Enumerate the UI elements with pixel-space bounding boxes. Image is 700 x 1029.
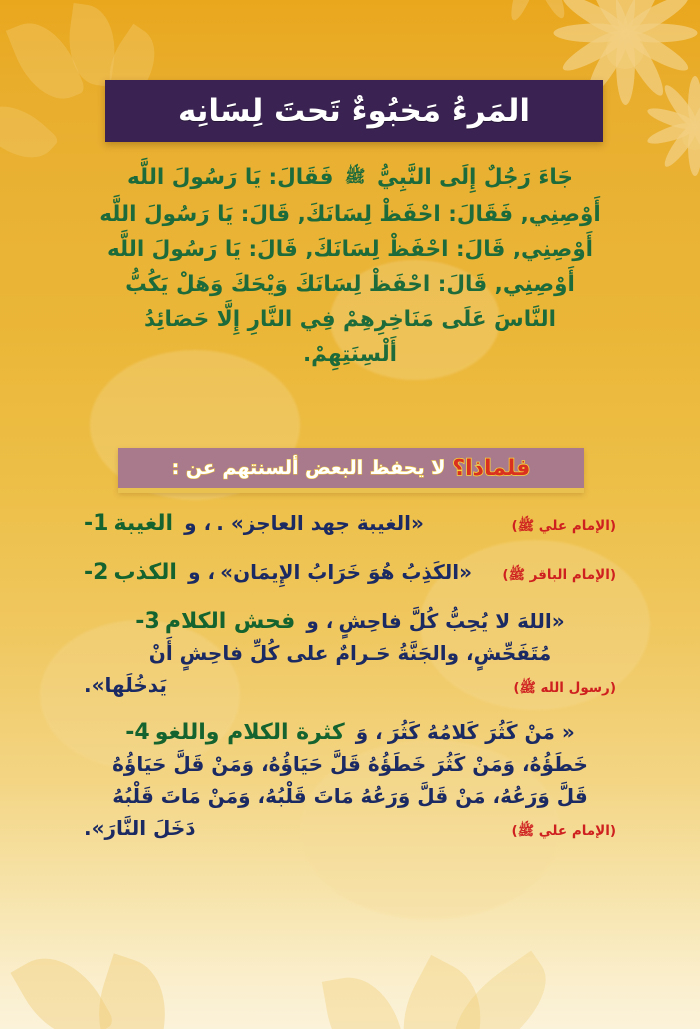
list-item: « مَنْ كَثُرَ كَلامُهُ كَثُرَ ، وَ كثرة …: [84, 717, 616, 846]
hadith-line: النَّاسَ عَلَى مَنَاخِرِهِمْ فِي النَّار…: [88, 302, 612, 337]
item-heading: فحش الكلام: [165, 609, 295, 634]
list-item: «اللهَ لا يُحِبُّ كُلَّ فاحِشٍ ، و فحش ا…: [84, 606, 616, 703]
item-main: «الكَذِبُ هُوَ خَرَابُ الإِيمَان» ، و ال…: [84, 557, 472, 589]
question-banner: فلماذا؟ لا يحفظ البعض ألسنتهم عن :: [118, 448, 584, 493]
item-row: (الإمام علي ﷺ) «الغيبة جهد العاجز» . ، و…: [84, 508, 616, 541]
item-quote: «الكَذِبُ هُوَ خَرَابُ الإِيمَان»: [220, 560, 472, 584]
hadith-line-part: جَاءَ رَجُلٌ إِلَى النَّبِيُّ: [377, 165, 573, 190]
item-heading: الكذب: [114, 560, 177, 585]
item-connector: ، وَ: [350, 720, 383, 744]
item-row: (رسول الله ﷺ) يَدخُلَها».: [84, 670, 616, 703]
item-quote: « مَنْ كَثُرَ كَلامُهُ كَثُرَ: [388, 720, 575, 744]
item-connector: ، و: [182, 560, 215, 584]
item-source: (الإمام علي ﷺ): [512, 511, 616, 541]
item-number: 4-: [125, 720, 149, 745]
item-number: 1-: [84, 511, 108, 536]
hadith-line: أَلْسِنَتِهِمْ.: [88, 337, 612, 372]
hadith-line: جَاءَ رَجُلٌ إِلَى النَّبِيُّ ﷺ فَقَالَ:…: [88, 160, 612, 197]
item-quote: «الغيبة جهد العاجز» .: [216, 511, 424, 535]
item-row: «اللهَ لا يُحِبُّ كُلَّ فاحِشٍ ، و فحش ا…: [84, 606, 616, 638]
item-source: (الإمام علي ﷺ): [512, 816, 616, 846]
list-item: (الإمام الباقر ﷺ) «الكَذِبُ هُوَ خَرَابُ…: [84, 557, 616, 590]
item-quote: مُتَفَحِّشٍ، والجَنَّةُ حَـرامٌ على كُلِ…: [149, 641, 551, 665]
item-source: (رسول الله ﷺ): [513, 673, 616, 703]
item-heading: الغيبة: [114, 511, 174, 536]
title-banner: المَرءُ مَخبُوءٌ تَحتَ لِسَانِه: [105, 80, 603, 142]
item-heading: كثرة الكلام واللغو: [155, 720, 345, 745]
item-row: (الإمام الباقر ﷺ) «الكَذِبُ هُوَ خَرَابُ…: [84, 557, 616, 590]
item-row: (الإمام علي ﷺ) دَخَلَ النَّارَ».: [84, 813, 616, 846]
item-number: 2-: [84, 560, 108, 585]
list-item: (الإمام علي ﷺ) «الغيبة جهد العاجز» . ، و…: [84, 508, 616, 541]
item-connector: ، و: [178, 511, 211, 535]
item-quote: قَلَّ وَرَعُهُ، مَنْ قَلَّ وَرَعُهُ مَات…: [112, 784, 588, 808]
item-main: «الغيبة جهد العاجز» . ، و الغيبة 1-: [84, 508, 424, 540]
hadith-line-part: فَقَالَ: يَا رَسُولَ اللَّه: [127, 165, 333, 190]
hadith-line: أَوْصِنِي, فَقَالَ: احْفَظْ لِسَانَكَ, ق…: [88, 197, 612, 232]
page-title: المَرءُ مَخبُوءٌ تَحتَ لِسَانِه: [178, 96, 530, 127]
question-rest: لا يحفظ البعض ألسنتهم عن :: [172, 457, 446, 479]
item-row: خَطَؤُهُ، وَمَنْ كَثُرَ خَطَؤُهُ قَلَّ ح…: [84, 749, 616, 781]
item-quote: دَخَلَ النَّارَ».: [84, 813, 196, 843]
item-row: قَلَّ وَرَعُهُ، مَنْ قَلَّ وَرَعُهُ مَات…: [84, 781, 616, 813]
item-source: (الإمام الباقر ﷺ): [502, 560, 616, 590]
item-quote: يَدخُلَها».: [84, 670, 167, 700]
hadith-text: جَاءَ رَجُلٌ إِلَى النَّبِيُّ ﷺ فَقَالَ:…: [88, 160, 612, 372]
item-row: « مَنْ كَثُرَ كَلامُهُ كَثُرَ ، وَ كثرة …: [84, 717, 616, 749]
salawat-icon: ﷺ: [341, 160, 370, 195]
hadith-line: أَوْصِنِي, قَالَ: احْفَظْ لِسَانَكَ وَيْ…: [88, 267, 612, 302]
hadith-line: أَوْصِنِي, قَالَ: احْفَظْ لِسَانَكَ, قَا…: [88, 232, 612, 267]
question-highlight: فلماذا؟: [452, 456, 530, 481]
item-connector: ، و: [300, 609, 333, 633]
item-number: 3-: [135, 609, 159, 634]
item-quote: «اللهَ لا يُحِبُّ كُلَّ فاحِشٍ: [338, 609, 564, 633]
poster-root: المَرءُ مَخبُوءٌ تَحتَ لِسَانِه جَاءَ رَ…: [0, 0, 700, 1029]
item-row: مُتَفَحِّشٍ، والجَنَّةُ حَـرامٌ على كُلِ…: [84, 638, 616, 670]
items-list: (الإمام علي ﷺ) «الغيبة جهد العاجز» . ، و…: [84, 508, 616, 848]
item-quote: خَطَؤُهُ، وَمَنْ كَثُرَ خَطَؤُهُ قَلَّ ح…: [112, 752, 588, 776]
